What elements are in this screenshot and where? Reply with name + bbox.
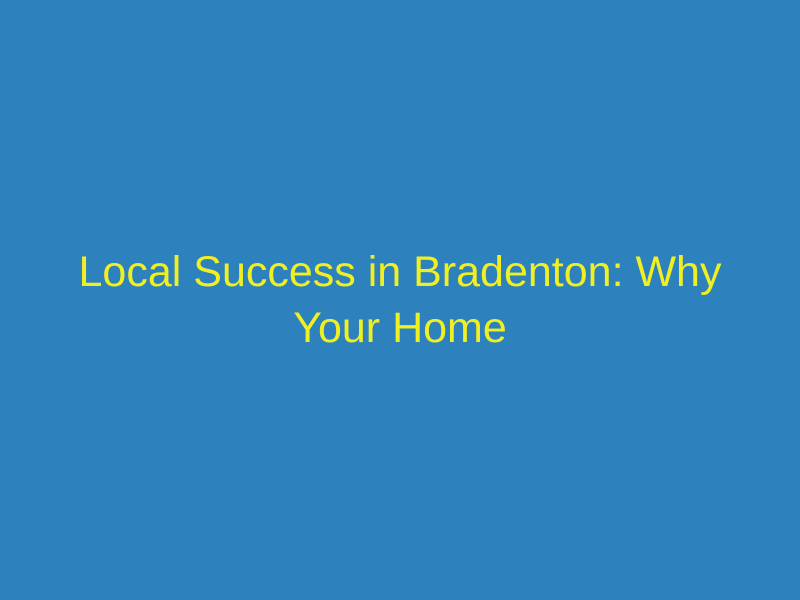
headline-block: Local Success in Bradenton: Why Your Hom…	[70, 244, 730, 356]
title-card: Local Success in Bradenton: Why Your Hom…	[0, 0, 800, 600]
page-title: Local Success in Bradenton: Why Your Hom…	[70, 244, 730, 356]
